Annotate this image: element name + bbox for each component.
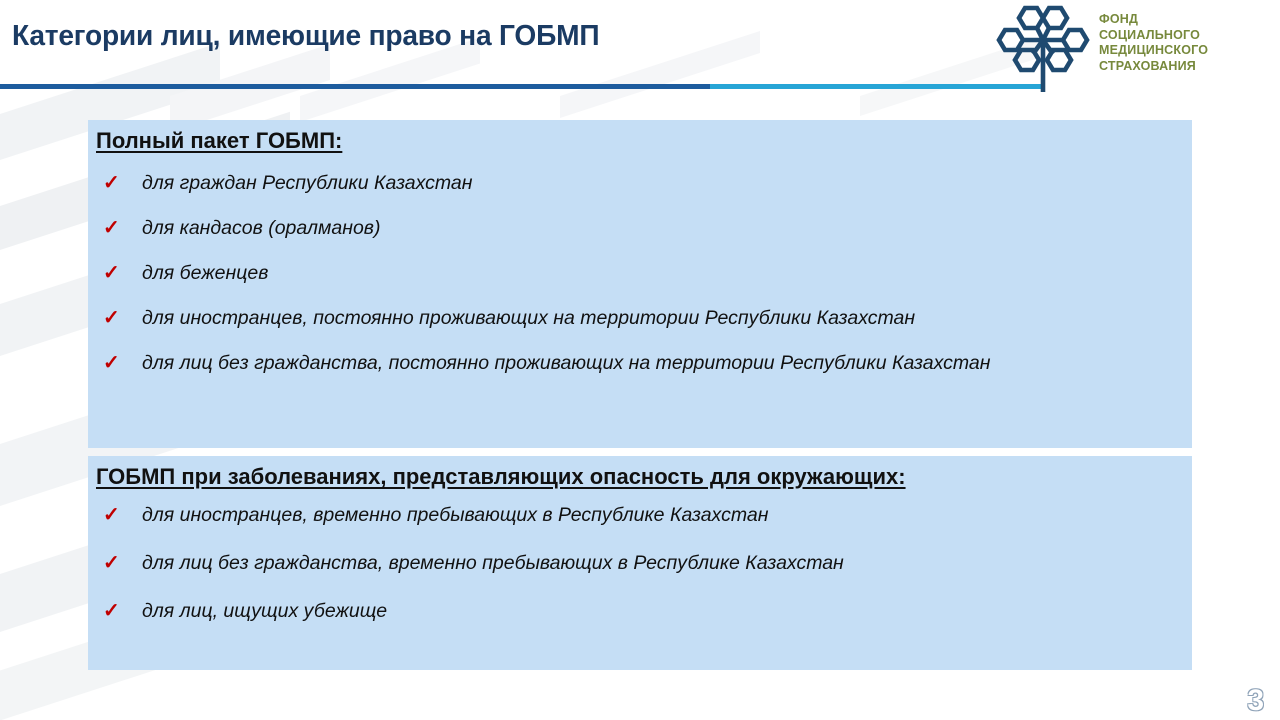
list-item-label: для граждан Республики Казахстан (142, 172, 473, 194)
panel-heading-dangerous-diseases: ГОБМП при заболеваниях, представляющих о… (96, 464, 906, 490)
list-item-label: для лиц без гражданства, постоянно прожи… (142, 352, 990, 374)
list-item: ✓для лиц без гражданства, временно пребы… (96, 548, 1184, 578)
checkmark-icon: ✓ (96, 213, 142, 243)
list-item-label: для кандасов (оралманов) (142, 217, 380, 239)
logo-text-line-2: СОЦИАЛЬНОГО (1099, 28, 1208, 44)
page-title: Категории лиц, имеющие право на ГОБМП (12, 20, 599, 53)
slide-header: Категории лиц, имеющие право на ГОБМП (0, 0, 1280, 96)
list-item-label: для беженцев (142, 262, 268, 284)
logo-text-line-1: ФОНД (1099, 12, 1208, 28)
checkmark-icon: ✓ (96, 258, 142, 288)
logo-text-line-3: МЕДИЦИНСКОГО (1099, 43, 1208, 59)
list-item: ✓для беженцев (96, 258, 1184, 288)
checkmark-icon: ✓ (96, 168, 142, 198)
checkmark-icon: ✓ (96, 500, 142, 530)
list-item-label: для иностранцев, временно пребывающих в … (142, 504, 768, 526)
list-item: ✓для иностранцев, постоянно проживающих … (96, 303, 1184, 333)
panel-full-package: Полный пакет ГОБМП: ✓для граждан Республ… (88, 120, 1192, 448)
page-number: 3 (1247, 684, 1264, 718)
list-item-label: для лиц без гражданства, временно пребыв… (142, 552, 844, 574)
logo-text-line-4: СТРАХОВАНИЯ (1099, 59, 1208, 75)
list-item: ✓для кандасов (оралманов) (96, 213, 1184, 243)
header-rule-dark (0, 84, 710, 89)
list-item: ✓для граждан Республики Казахстан (96, 168, 1184, 198)
bullet-list-full-package: ✓для граждан Республики Казахстан ✓для к… (96, 168, 1184, 393)
panel-heading-full-package: Полный пакет ГОБМП: (96, 128, 342, 154)
list-item: ✓для иностранцев, временно пребывающих в… (96, 500, 1184, 530)
fsms-snowflake-logo-icon (995, 2, 1091, 94)
panel-dangerous-diseases: ГОБМП при заболеваниях, представляющих о… (88, 456, 1192, 670)
list-item-label: для лиц, ищущих убежище (142, 600, 387, 622)
slide: Категории лиц, имеющие право на ГОБМП (0, 0, 1280, 720)
checkmark-icon: ✓ (96, 348, 142, 378)
list-item: ✓для лиц без гражданства, постоянно прож… (96, 348, 1184, 378)
list-item-label: для иностранцев, постоянно проживающих н… (142, 307, 915, 329)
organization-logo: ФОНД СОЦИАЛЬНОГО МЕДИЦИНСКОГО СТРАХОВАНИ… (995, 2, 1280, 94)
checkmark-icon: ✓ (96, 303, 142, 333)
organization-name: ФОНД СОЦИАЛЬНОГО МЕДИЦИНСКОГО СТРАХОВАНИ… (1099, 12, 1208, 74)
checkmark-icon: ✓ (96, 596, 142, 626)
list-item: ✓для лиц, ищущих убежище (96, 596, 1184, 626)
bullet-list-dangerous-diseases: ✓для иностранцев, временно пребывающих в… (96, 500, 1184, 644)
checkmark-icon: ✓ (96, 548, 142, 578)
